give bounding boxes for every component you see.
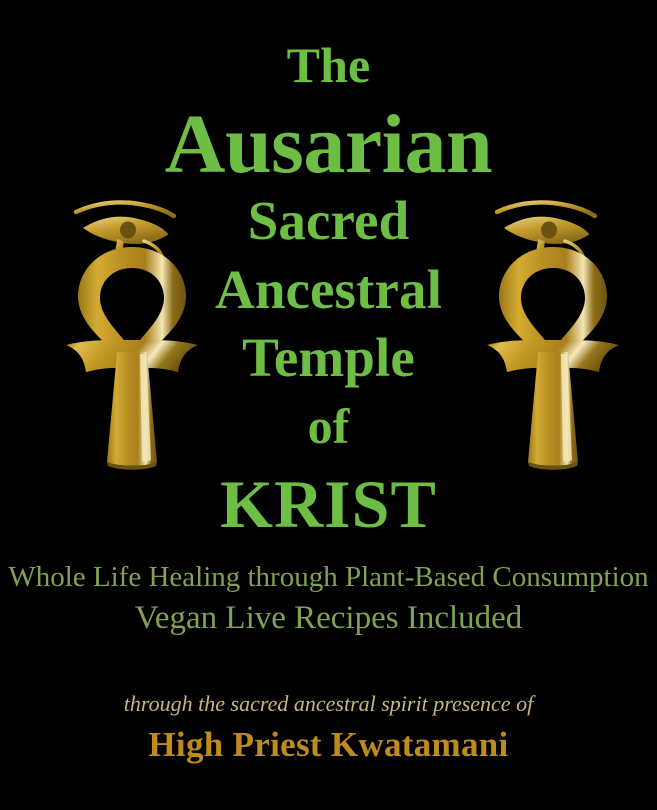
tagline-primary: Whole Life Healing through Plant-Based C… bbox=[0, 563, 657, 592]
title-line-temple: Temple bbox=[0, 330, 657, 385]
title-line-of: of bbox=[0, 401, 657, 451]
title-line-ausarian: Ausarian bbox=[0, 103, 657, 187]
tagline-secondary: Vegan Live Recipes Included bbox=[0, 602, 657, 635]
author-name: High Priest Kwatamani bbox=[0, 727, 657, 762]
title-line-sacred: Sacred bbox=[0, 193, 657, 248]
title-line-ancestral: Ancestral bbox=[0, 262, 657, 317]
book-cover: The Ausarian Sacred Ancestral Temple of … bbox=[0, 0, 657, 810]
title-line-krist: KRIST bbox=[0, 470, 657, 538]
author-byline: through the sacred ancestral spirit pres… bbox=[0, 693, 657, 715]
title-line-the: The bbox=[0, 40, 657, 90]
